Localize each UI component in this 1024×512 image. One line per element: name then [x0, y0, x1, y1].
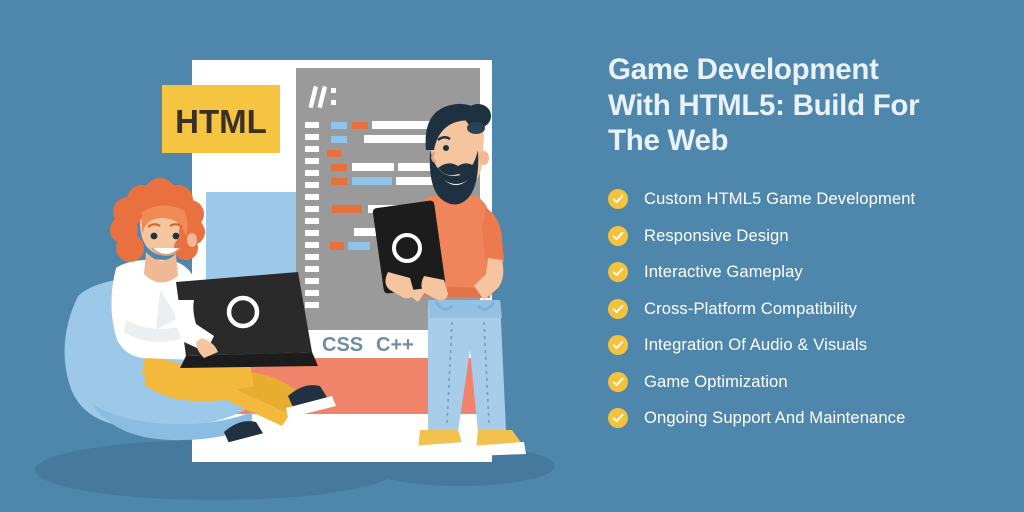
feature-list: Custom HTML5 Game Development Responsive…	[608, 181, 1024, 437]
check-circle-icon	[608, 372, 628, 392]
check-circle-icon	[608, 262, 628, 282]
check-circle-icon	[608, 299, 628, 319]
list-item: Cross-Platform Compatibility	[608, 291, 1024, 328]
page-title-line-1: Game Development	[608, 52, 1008, 88]
list-item: Ongoing Support And Maintenance	[608, 400, 1024, 437]
list-item-label: Game Optimization	[644, 372, 788, 392]
list-item-label: Cross-Platform Compatibility	[644, 299, 857, 319]
page-title-line-2: With HTML5: Build For	[608, 88, 1008, 124]
list-item: Interactive Gameplay	[608, 254, 1024, 291]
list-item-label: Integration Of Audio & Visuals	[644, 335, 867, 355]
language-tag-cpp: C++	[376, 334, 414, 356]
check-circle-icon	[608, 335, 628, 355]
list-item-label: Custom HTML5 Game Development	[644, 189, 915, 209]
list-item-label: Responsive Design	[644, 226, 789, 246]
content-column: Game Development With HTML5: Build For T…	[608, 0, 1024, 512]
list-item-label: Ongoing Support And Maintenance	[644, 408, 905, 428]
list-item: Integration Of Audio & Visuals	[608, 327, 1024, 364]
page-title-line-3: The Web	[608, 123, 1008, 159]
language-tag-css: CSS	[322, 334, 363, 356]
list-item: Game Optimization	[608, 364, 1024, 401]
check-circle-icon	[608, 226, 628, 246]
list-item-label: Interactive Gameplay	[644, 262, 803, 282]
check-circle-icon	[608, 408, 628, 428]
list-item: Responsive Design	[608, 218, 1024, 255]
check-circle-icon	[608, 189, 628, 209]
html-badge-label: HTML	[175, 103, 267, 140]
list-item: Custom HTML5 Game Development	[608, 181, 1024, 218]
laptop-device	[176, 272, 318, 368]
page-title: Game Development With HTML5: Build For T…	[608, 52, 1008, 159]
illustration: CSS C++ HTML	[0, 0, 580, 512]
banner-root: CSS C++ HTML	[0, 0, 1024, 512]
